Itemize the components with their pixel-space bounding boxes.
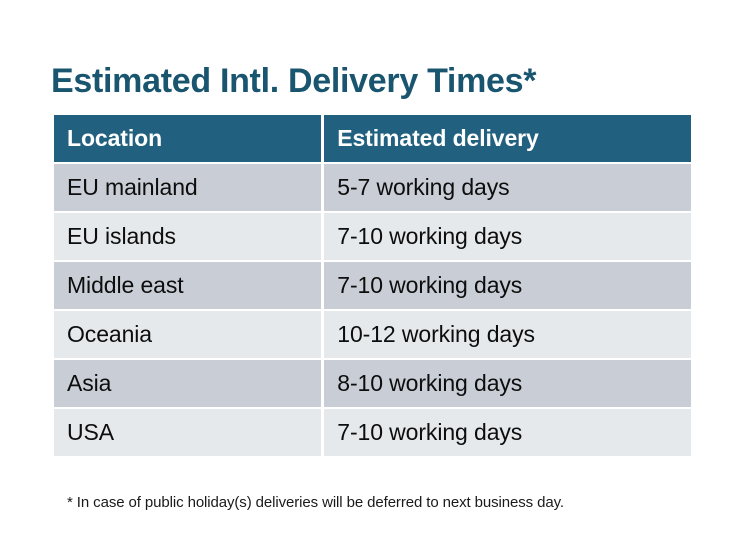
cell-estimated-delivery: 7-10 working days: [324, 213, 691, 260]
table-body: EU mainland 5-7 working days EU islands …: [54, 164, 691, 456]
delivery-times-table: Location Estimated delivery EU mainland …: [51, 113, 694, 458]
cell-location: Asia: [54, 360, 321, 407]
cell-estimated-delivery: 5-7 working days: [324, 164, 691, 211]
column-header-location: Location: [54, 115, 321, 162]
footnote-text: * In case of public holiday(s) deliverie…: [67, 494, 564, 511]
table-row: Middle east 7-10 working days: [54, 262, 691, 309]
table-row: EU mainland 5-7 working days: [54, 164, 691, 211]
table-row: EU islands 7-10 working days: [54, 213, 691, 260]
column-header-estimated-delivery: Estimated delivery: [324, 115, 691, 162]
cell-location: Middle east: [54, 262, 321, 309]
cell-estimated-delivery: 8-10 working days: [324, 360, 691, 407]
cell-location: USA: [54, 409, 321, 456]
cell-location: EU islands: [54, 213, 321, 260]
cell-location: EU mainland: [54, 164, 321, 211]
table-header: Location Estimated delivery: [54, 115, 691, 162]
table-row: Asia 8-10 working days: [54, 360, 691, 407]
page-title: Estimated Intl. Delivery Times*: [51, 59, 536, 103]
cell-location: Oceania: [54, 311, 321, 358]
table-row: USA 7-10 working days: [54, 409, 691, 456]
table-row: Oceania 10-12 working days: [54, 311, 691, 358]
cell-estimated-delivery: 10-12 working days: [324, 311, 691, 358]
cell-estimated-delivery: 7-10 working days: [324, 262, 691, 309]
cell-estimated-delivery: 7-10 working days: [324, 409, 691, 456]
table-header-row: Location Estimated delivery: [54, 115, 691, 162]
delivery-times-page: Estimated Intl. Delivery Times* Location…: [0, 0, 745, 536]
